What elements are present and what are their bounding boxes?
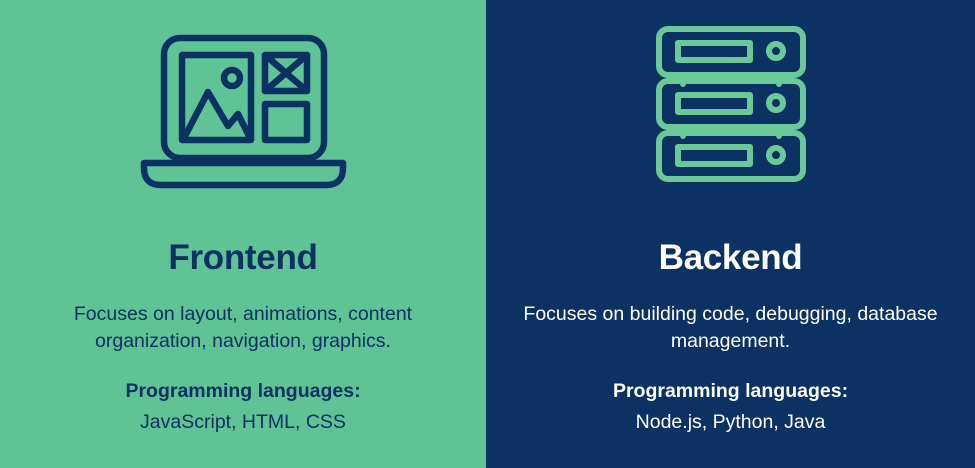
panel-title-backend: Backend bbox=[659, 240, 803, 275]
frontend-icon-wrap bbox=[0, 0, 486, 212]
panel-frontend: Frontend Focuses on layout, animations, … bbox=[0, 0, 486, 468]
server-slot-3 bbox=[678, 147, 750, 164]
languages-list-frontend: JavaScript, HTML, CSS bbox=[140, 409, 346, 436]
server-stack-icon bbox=[656, 26, 806, 186]
panel-description-backend: Focuses on building code, debugging, dat… bbox=[494, 301, 968, 355]
server-led-1 bbox=[769, 44, 783, 58]
laptop-webpage-layout-icon bbox=[136, 22, 351, 190]
languages-heading-frontend: Programming languages: bbox=[125, 378, 360, 405]
panel-backend: Backend Focuses on building code, debugg… bbox=[486, 0, 975, 468]
laptop-base bbox=[144, 163, 343, 185]
languages-list-backend: Node.js, Python, Java bbox=[636, 409, 826, 436]
backend-icon-wrap bbox=[486, 0, 975, 212]
panel-description-frontend: Focuses on layout, animations, content o… bbox=[6, 301, 480, 355]
server-led-3 bbox=[769, 148, 783, 162]
languages-heading-backend: Programming languages: bbox=[613, 378, 848, 405]
comparison-graphic: Frontend Focuses on layout, animations, … bbox=[0, 0, 975, 468]
server-slot-2 bbox=[678, 95, 750, 112]
server-led-2 bbox=[769, 96, 783, 110]
server-slot-1 bbox=[678, 43, 750, 60]
panel-title-frontend: Frontend bbox=[168, 240, 317, 275]
